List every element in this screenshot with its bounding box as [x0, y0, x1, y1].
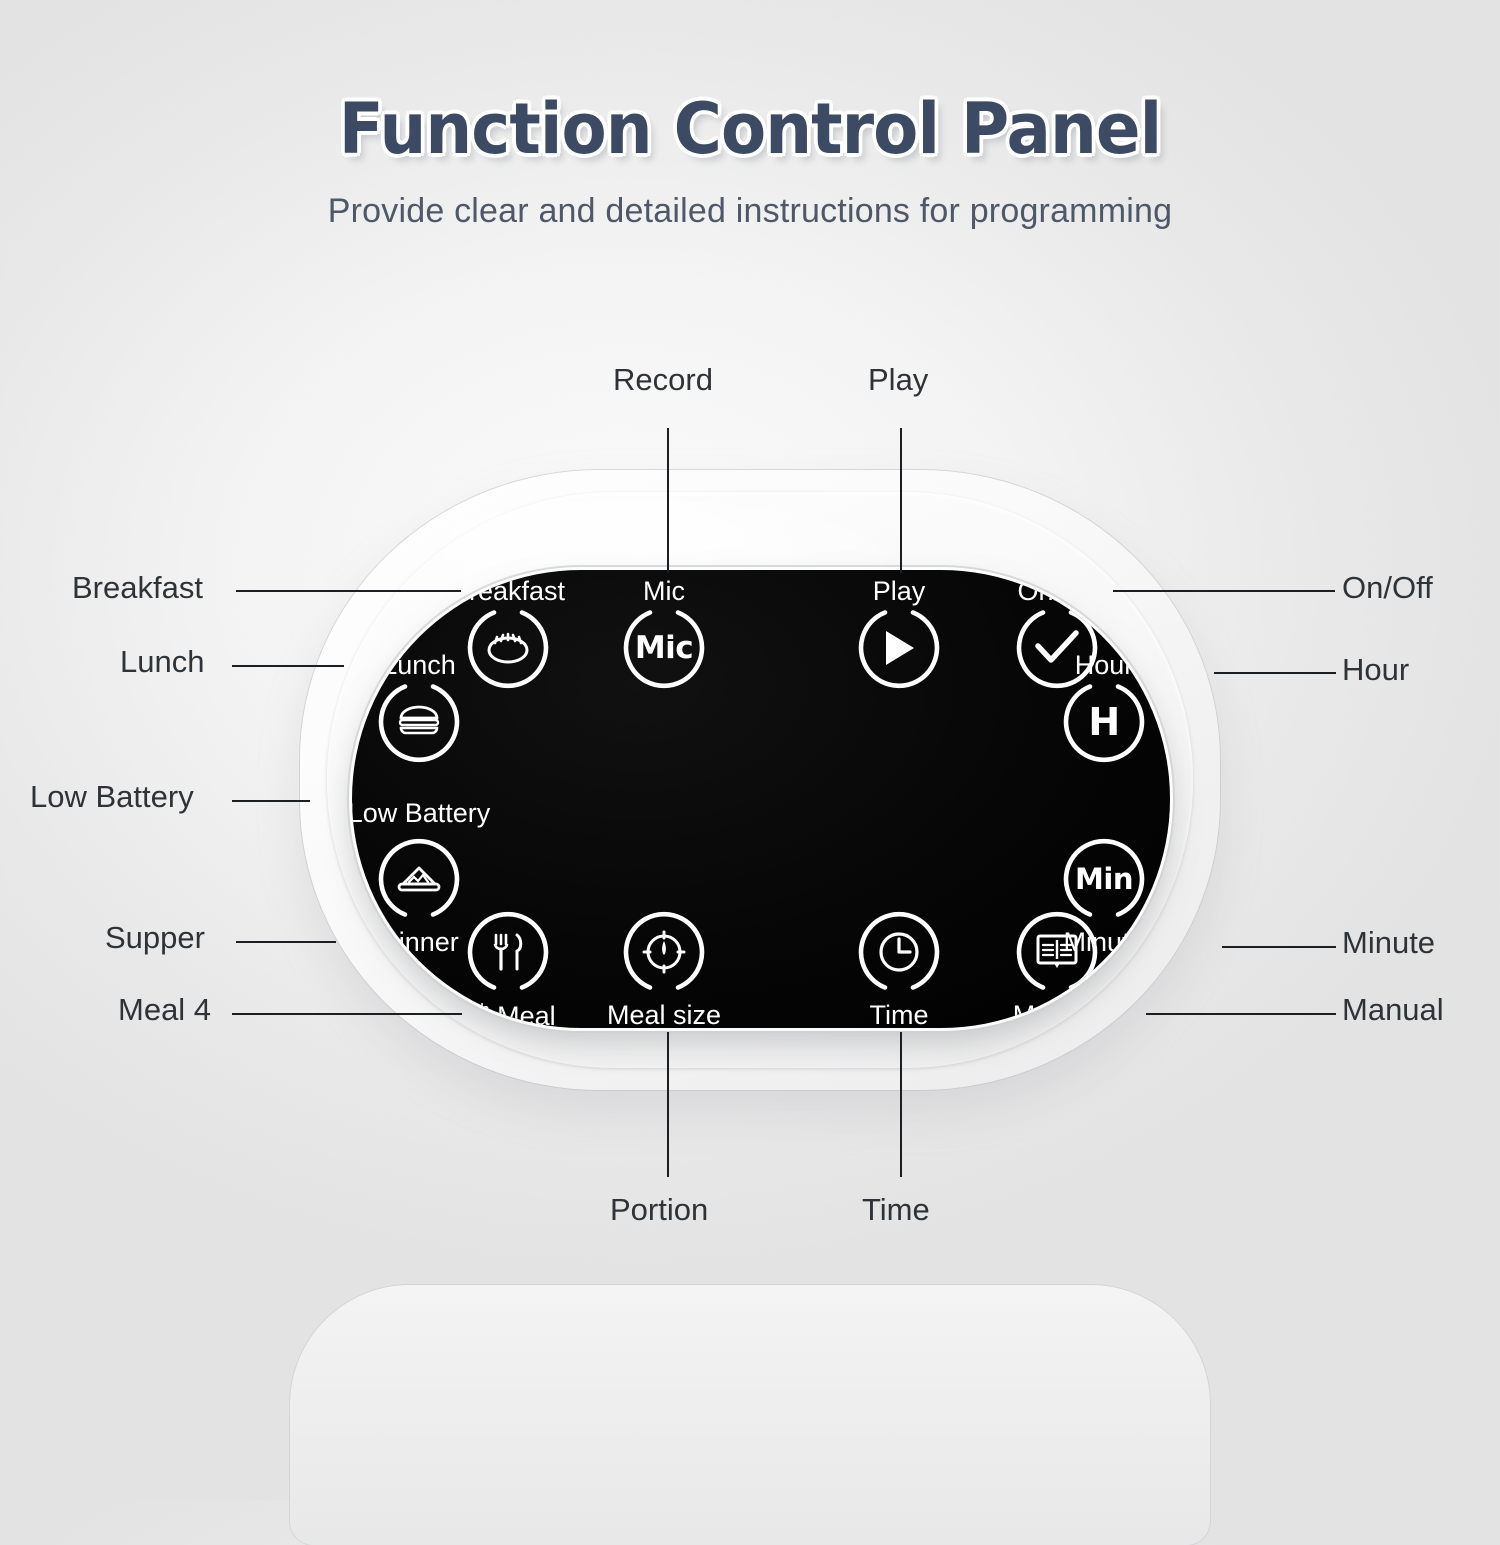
callout-time-label: Time: [862, 1192, 930, 1228]
device-lower-body: [290, 1285, 1210, 1545]
hour-button-label: Hour: [1075, 650, 1134, 681]
time-button-label: Time: [870, 1000, 929, 1028]
callout-low-battery-label: Low Battery: [30, 779, 194, 815]
callout-time-line: [900, 1032, 902, 1177]
callout-breakfast-label: Breakfast: [72, 570, 203, 606]
gauge-dial-icon: [621, 909, 707, 995]
callout-hour-label: Hour: [1342, 652, 1409, 688]
clock-icon: [856, 909, 942, 995]
callout-lunch-line: [232, 665, 344, 667]
play-triangle-icon: [856, 605, 942, 691]
callout-minute-label: Minute: [1342, 925, 1435, 961]
callout-supper-line: [236, 941, 336, 943]
food-plate-icon: [376, 836, 462, 922]
callout-portion-line: [667, 1032, 669, 1177]
fourth-meal-button-label: 4th Meal: [460, 1000, 555, 1028]
callout-supper-label: Supper: [105, 920, 205, 956]
play-button-label: Play: [873, 576, 926, 607]
callout-onoff-line: [1113, 590, 1335, 592]
callout-lunch-label: Lunch: [120, 644, 204, 680]
page-subtitle: Provide clear and detailed instructions …: [0, 170, 1500, 231]
callout-breakfast-line: [236, 590, 461, 592]
dinner-button-label: Dinner: [379, 927, 459, 958]
low-battery-indicator: Low Battery: [352, 798, 490, 829]
control-panel: Breakfast Mic Mic Play On/Off: [352, 570, 1170, 1028]
callout-hour-line: [1214, 672, 1336, 674]
lunch-button-label: Lunch: [382, 650, 456, 681]
callout-record-line: [667, 428, 669, 573]
callout-manual-line: [1146, 1013, 1336, 1015]
fork-knife-icon: [465, 909, 551, 995]
callout-low-battery-line: [232, 800, 310, 802]
mic-text-icon: Mic: [621, 605, 707, 691]
header: Function Control Panel Provide clear and…: [0, 0, 1500, 231]
hour-glyph-text: H: [1088, 700, 1119, 744]
hamburger-icon: [376, 679, 462, 765]
fourth-meal-word: Meal: [497, 1001, 556, 1028]
mic-button-label: Mic: [643, 576, 685, 607]
callout-onoff-label: On/Off: [1342, 570, 1433, 606]
callout-play-line: [900, 428, 902, 573]
onoff-button-label: On/Off: [1017, 576, 1096, 607]
callout-meal-4-line: [232, 1013, 462, 1015]
manual-book-icon: [1014, 909, 1100, 995]
hour-letter-icon: H: [1061, 679, 1147, 765]
callout-minute-line: [1222, 946, 1336, 948]
callout-record-label: Record: [613, 362, 713, 398]
callout-play-label: Play: [868, 362, 928, 398]
bread-loaf-icon: [465, 605, 551, 691]
min-glyph-text: Min: [1075, 862, 1133, 896]
fourth-meal-ordinal: th: [475, 1000, 489, 1019]
fourth-meal-number: 4: [460, 1001, 475, 1028]
callout-portion-label: Portion: [610, 1192, 708, 1228]
manual-button-label: Manual: [1013, 1000, 1102, 1028]
callout-meal-4-label: Meal 4: [118, 992, 211, 1028]
breakfast-button-label: Breakfast: [451, 576, 565, 607]
mic-glyph-text: Mic: [635, 630, 693, 666]
callout-manual-label: Manual: [1342, 992, 1444, 1028]
page-title: Function Control Panel: [45, 0, 1455, 170]
meal-size-button-label: Meal size: [607, 1000, 721, 1028]
